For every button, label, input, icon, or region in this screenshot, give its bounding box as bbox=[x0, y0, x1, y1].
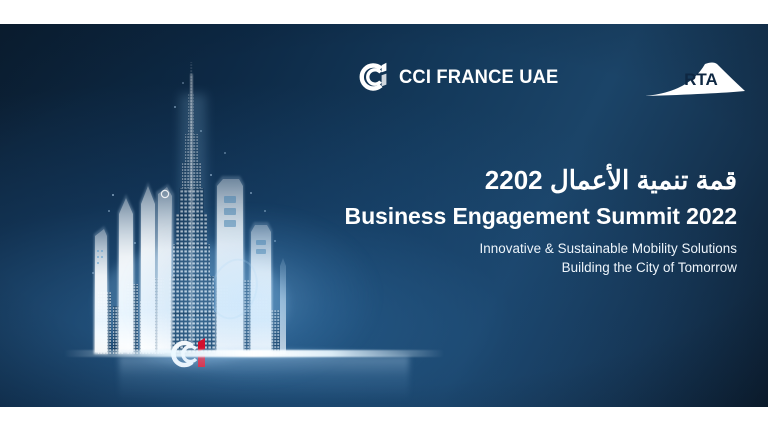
rta-wordmark: RTA bbox=[684, 70, 718, 89]
cci-monogram-icon bbox=[356, 60, 390, 94]
partner-logo-row: CCI FRANCE UAE RTA bbox=[0, 24, 768, 114]
cci-wordmark: CCI FRANCE UAE bbox=[399, 66, 558, 89]
cci-france-uae-logo: CCI FRANCE UAE bbox=[356, 60, 569, 94]
title-arabic: قمة تنمية الأعمال 2022 bbox=[307, 164, 737, 197]
rta-logo: RTA bbox=[643, 58, 747, 102]
title-english: Business Engagement Summit 2022 bbox=[316, 202, 737, 230]
subtitle-line-2: Building the City of Tomorrow bbox=[307, 258, 737, 278]
subtitle-line-1: Innovative & Sustainable Mobility Soluti… bbox=[307, 239, 737, 259]
event-banner: CCI FRANCE UAE RTA قمة تنمية الأعمال 202… bbox=[0, 24, 768, 407]
banner-canvas: CCI FRANCE UAE RTA قمة تنمية الأعمال 202… bbox=[0, 0, 768, 432]
headline-block: قمة تنمية الأعمال 2022 Business Engageme… bbox=[307, 164, 737, 278]
